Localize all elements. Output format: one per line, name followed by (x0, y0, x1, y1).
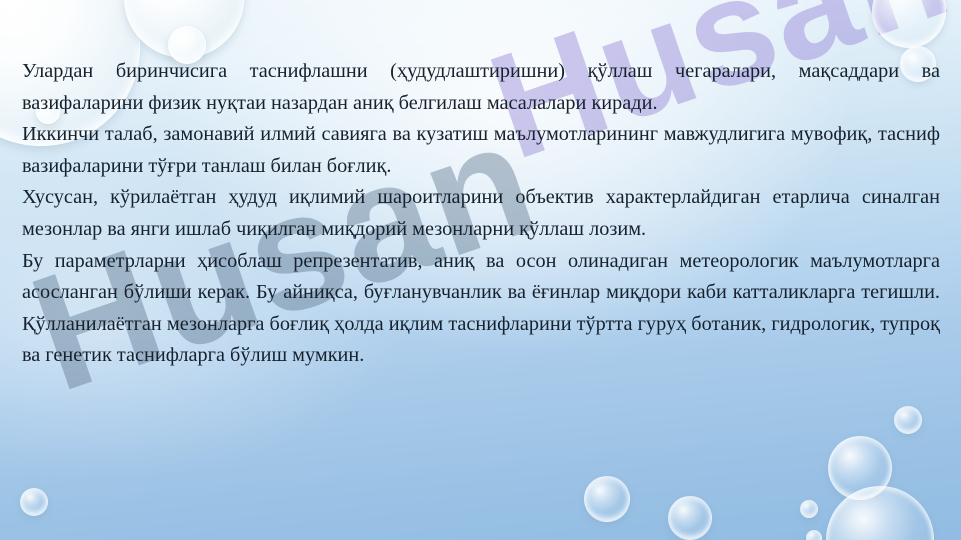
bubble-bottom-mid (668, 496, 712, 540)
paragraph-2: Иккинчи талаб, замонавий илмий савияга в… (22, 119, 940, 182)
bubble-bottom-left-a (20, 488, 48, 516)
paragraph-1: Улардан биринчисига таснифлашни (ҳудудла… (22, 56, 940, 119)
paragraph-3: Хусусан, кўрилаётган ҳудуд иқлимий шарои… (22, 182, 940, 245)
bubble-top-left-mid (124, 0, 244, 58)
slide-canvas: Husan Husan Улардан биринчисига таснифла… (0, 0, 961, 540)
bubble-bottom-small-b (806, 530, 822, 540)
bubble-bottom-small-a (800, 500, 818, 518)
bubble-bottom-left-b (584, 476, 630, 522)
bubble-bottom-right-b (826, 486, 934, 540)
paragraph-4: Бу параметрларни ҳисоблаш репрезентатив,… (22, 246, 940, 372)
bubble-bottom-right-a (828, 436, 892, 500)
slide-body-text: Улардан биринчисига таснифлашни (ҳудудла… (22, 56, 940, 372)
bubble-bottom-right-c (894, 406, 922, 434)
bubble-top-right-ring (872, 0, 946, 48)
